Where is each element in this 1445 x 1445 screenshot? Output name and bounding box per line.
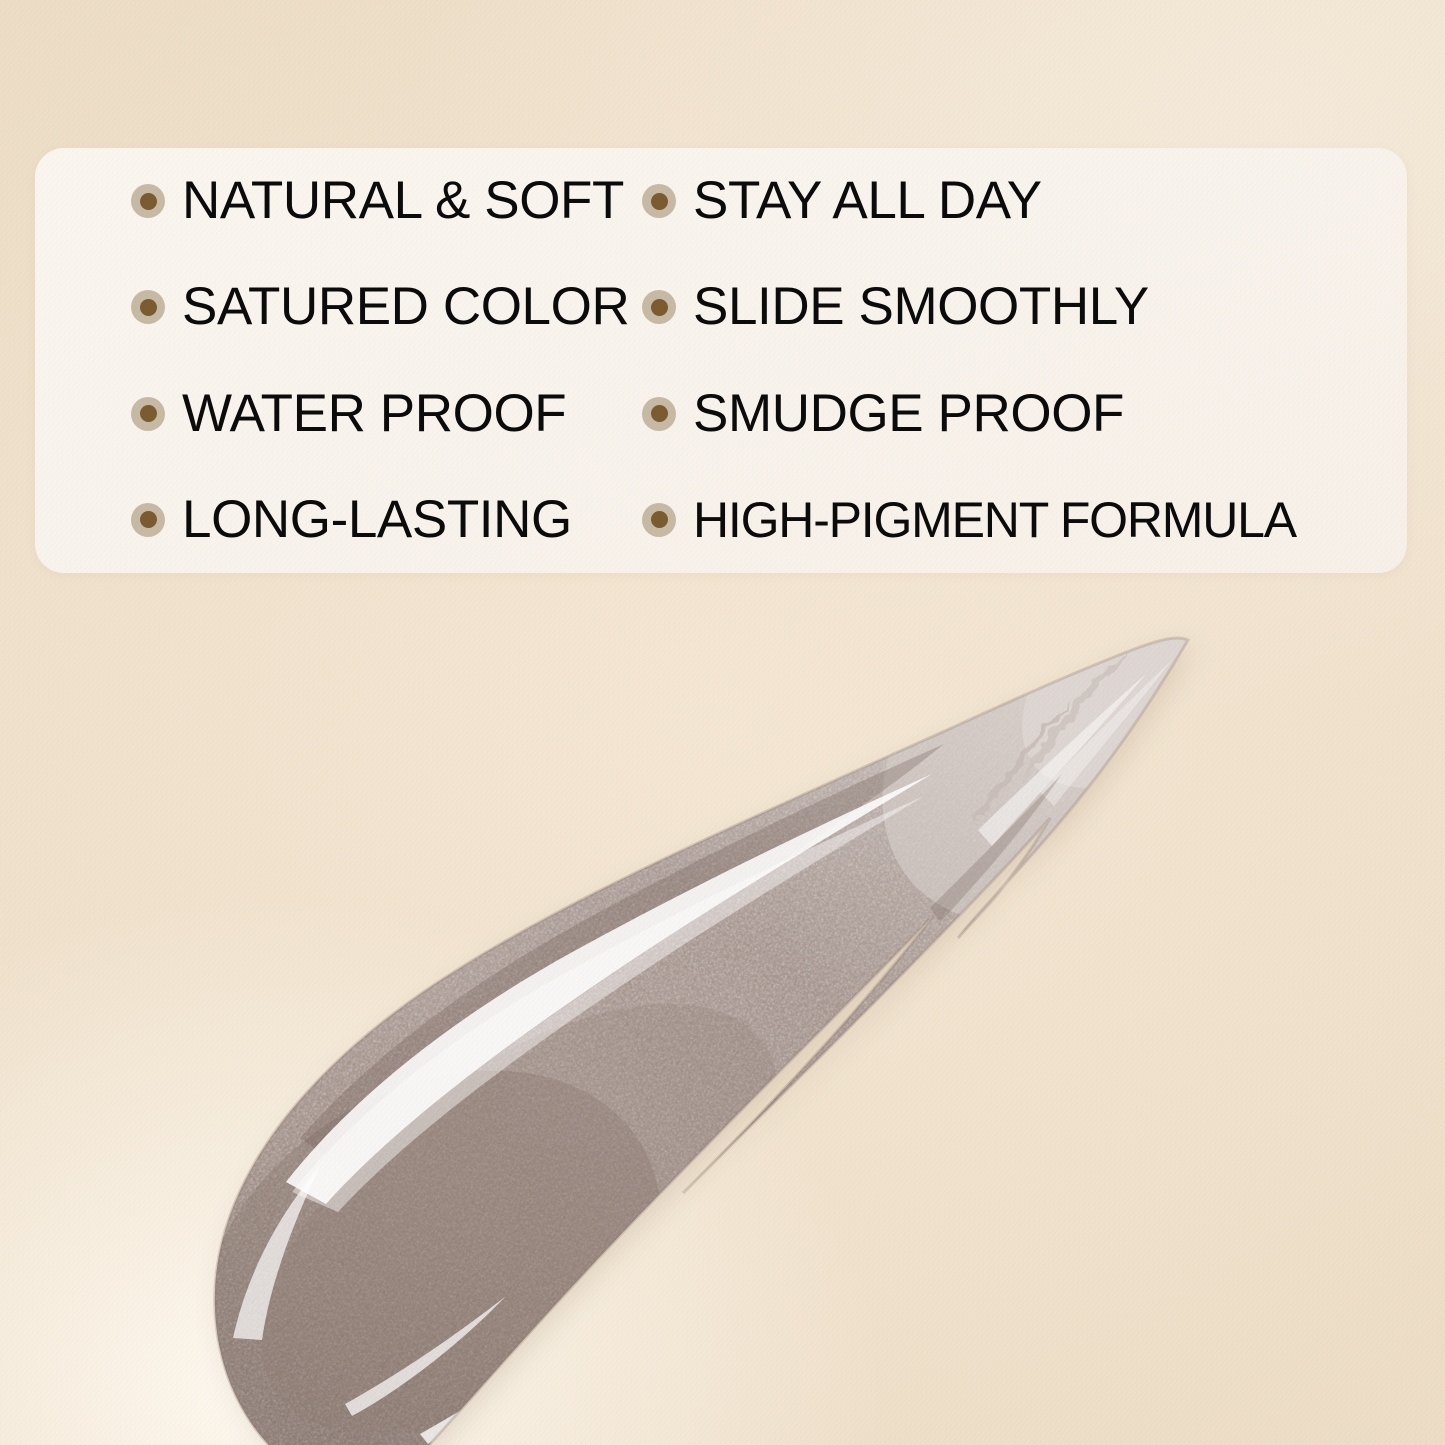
feature-label: WATER PROOF [182, 385, 566, 443]
bullet-dot-icon [131, 503, 165, 537]
feature-item-satured-color: SATURED COLOR [35, 278, 620, 336]
page-title: EYEBROW POMADE [51, 22, 1395, 118]
bullet-dot-icon [131, 397, 165, 431]
feature-item-long-lasting: LONG-LASTING [35, 491, 620, 549]
bullet-dot-icon [642, 503, 676, 537]
feature-item-smudge-proof: SMUDGE PROOF [620, 385, 1407, 443]
product-marketing-image: EYEBROW POMADE NATURAL & SOFT STAY ALL D… [0, 0, 1445, 1445]
feature-item-slide-smoothly: SLIDE SMOOTHLY [620, 278, 1407, 336]
features-card: NATURAL & SOFT STAY ALL DAY SATURED COLO… [35, 148, 1407, 573]
feature-label: NATURAL & SOFT [182, 172, 624, 230]
bullet-dot-icon [642, 397, 676, 431]
bullet-dot-icon [642, 290, 676, 324]
feature-item-high-pigment-formula: HIGH-PIGMENT FORMULA [620, 491, 1407, 549]
bullet-dot-icon [642, 184, 676, 218]
feature-label: SLIDE SMOOTHLY [693, 278, 1149, 336]
feature-label: SMUDGE PROOF [693, 385, 1124, 443]
bullet-dot-icon [131, 184, 165, 218]
feature-label: SATURED COLOR [182, 278, 629, 336]
feature-label: STAY ALL DAY [693, 172, 1042, 230]
bullet-dot-icon [131, 290, 165, 324]
feature-label: HIGH-PIGMENT FORMULA [693, 491, 1296, 549]
product-swatch-illustration [0, 578, 1445, 1445]
features-grid: NATURAL & SOFT STAY ALL DAY SATURED COLO… [35, 148, 1407, 573]
product-swatch [0, 578, 1445, 1445]
feature-item-natural-soft: NATURAL & SOFT [35, 172, 620, 230]
feature-item-stay-all-day: STAY ALL DAY [620, 172, 1407, 230]
feature-item-water-proof: WATER PROOF [35, 385, 620, 443]
feature-label: LONG-LASTING [182, 491, 572, 549]
